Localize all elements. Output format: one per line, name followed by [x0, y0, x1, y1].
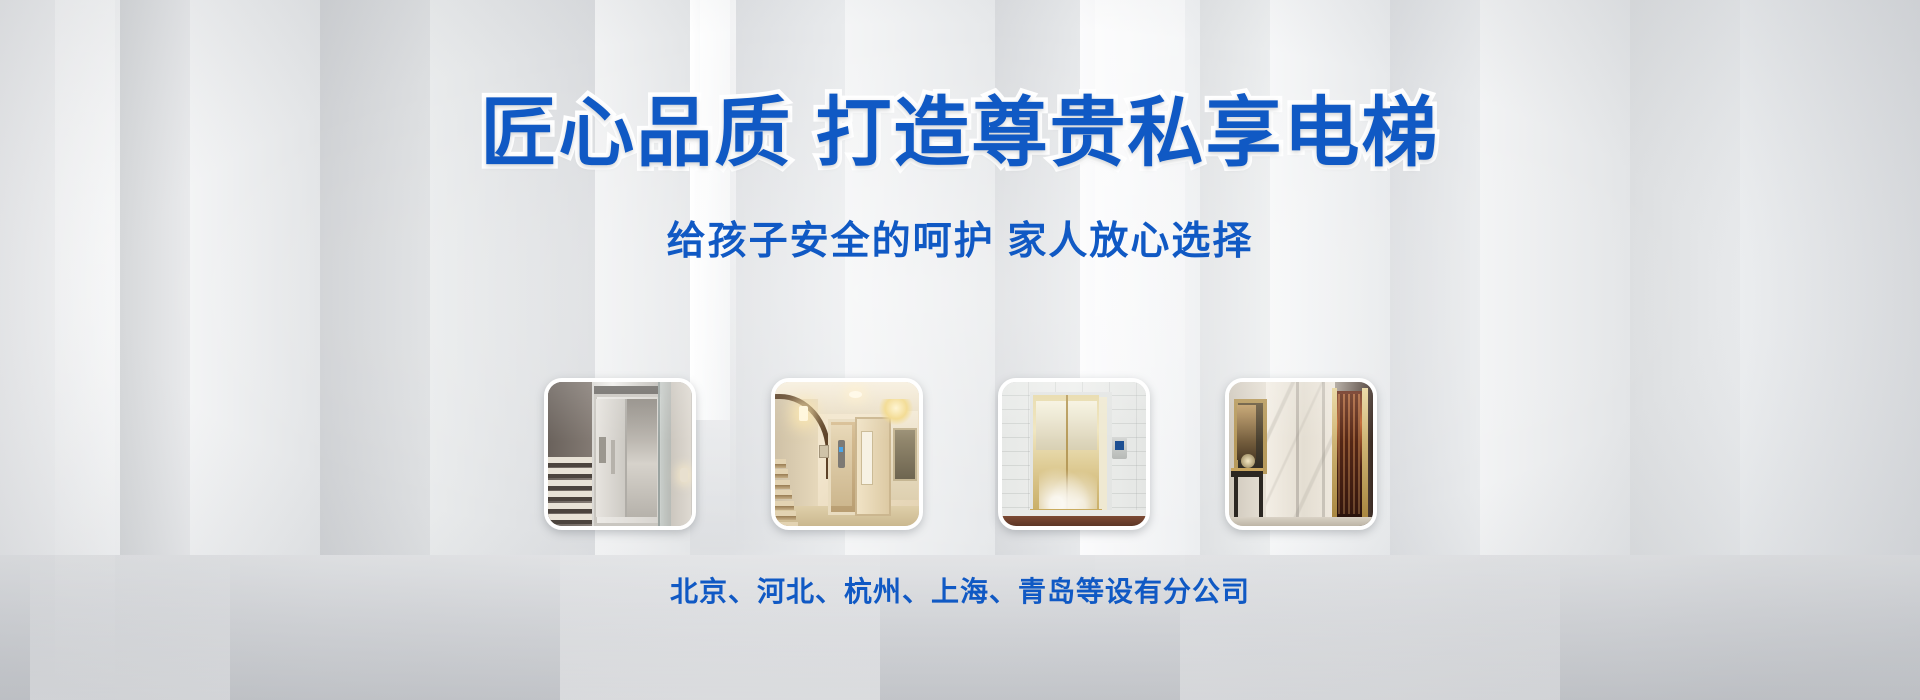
gallery-image-white-brick-wall-golden-glass-elevator[interactable] — [998, 378, 1150, 530]
promo-banner: 匠心品质 打造尊贵私享电梯 给孩子安全的呵护 家人放心选择 — [0, 0, 1920, 700]
gallery-image-silver-home-elevator-beside-staircase[interactable] — [544, 378, 696, 530]
photo-scene — [548, 382, 692, 526]
gallery-image-beige-hall-elevator-with-curved-stair[interactable] — [771, 378, 923, 530]
photo-scene — [775, 382, 919, 526]
photo-scene — [1002, 382, 1146, 526]
gallery-image-marble-lobby-elevator-with-wood-cabin[interactable] — [1225, 378, 1377, 530]
branch-offices-note: 北京、河北、杭州、上海、青岛等设有分公司 — [0, 578, 1920, 606]
banner-content: 匠心品质 打造尊贵私享电梯 给孩子安全的呵护 家人放心选择 — [0, 0, 1920, 700]
photo-scene — [1229, 382, 1373, 526]
product-gallery — [0, 378, 1920, 530]
headline: 匠心品质 打造尊贵私享电梯 — [0, 96, 1920, 172]
subtitle: 给孩子安全的呵护 家人放心选择 — [0, 222, 1920, 261]
